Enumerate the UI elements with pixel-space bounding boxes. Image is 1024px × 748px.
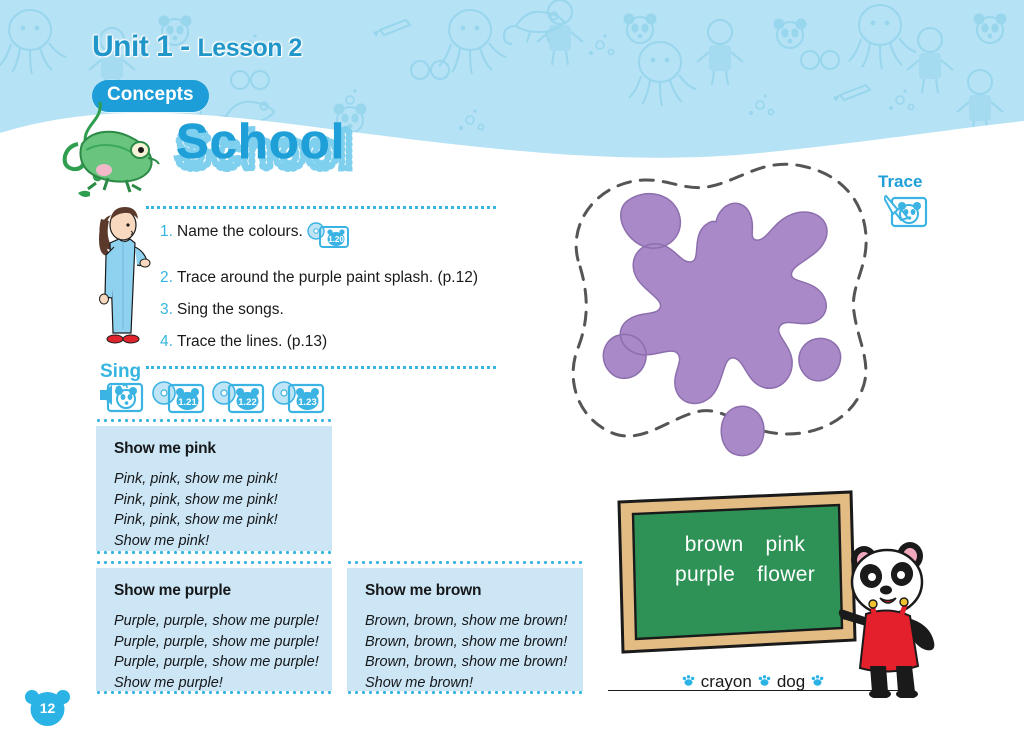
song-line: Brown, brown, show me brown! [365,611,567,632]
audio-track-number: 1.20 [328,235,344,244]
audio-track-number: 1.23 [298,397,317,408]
topic-title: School [176,118,345,167]
song-box-purple: Show me purple Purple, purple, show me p… [96,568,332,691]
dotted-divider-bottom-pink [96,551,332,558]
song-line: Brown, brown, show me brown! [365,652,567,673]
song-line: Show me brown! [365,673,567,694]
instruction-text: Trace around the purple paint splash. (p… [177,268,478,289]
audio-track-icon-1-20[interactable]: 1.20 [306,222,352,257]
instruction-item-4: 4. Trace the lines. (p.13) [146,332,496,353]
paint-splash-trace-activity [520,140,920,480]
instruction-text: Sing the songs. [177,300,284,321]
bottom-word-crayon: crayon [701,672,752,692]
song-line: Brown, brown, show me brown! [365,632,567,653]
song-line: Show me purple! [114,673,316,694]
paw-print-icon [682,672,695,692]
chameleon-mascot [56,100,176,200]
audio-track-icon-1-23[interactable]: 1.23 [272,380,326,423]
song-line: Purple, purple, show me purple! [114,632,316,653]
dotted-divider-top-brown [347,561,583,568]
song-line: Pink, pink, show me pink! [114,490,316,511]
song-title: Show me pink [114,440,316,458]
blackboard-word-row: brown pink [640,530,850,560]
sing-panda-icon [96,380,146,423]
page-title: Unit 1 - Lesson 2 [92,30,302,64]
instruction-text: Trace the lines. (p.13) [177,332,327,353]
song-line: Purple, purple, show me purple! [114,611,316,632]
instruction-number: 2. [160,268,177,289]
paw-print-icon [811,672,824,692]
audio-track-icon-1-22[interactable]: 1.22 [212,380,266,423]
bottom-word-dog: dog [777,672,805,692]
song-box-pink: Show me pink Pink, pink, show me pink! P… [96,426,332,551]
blackboard-word-row: purple flower [640,560,850,590]
song-title: Show me purple [114,582,316,600]
sing-audio-icons: 1.21 1.22 1.23 [96,380,326,423]
blackboard-word: flower [757,560,815,590]
instruction-number: 3. [160,300,177,321]
song-box-brown: Show me brown Brown, brown, show me brow… [347,568,583,691]
audio-track-number: 1.21 [178,397,197,408]
trace-panda-pencil-icon [884,192,930,232]
instruction-number: 1. [160,222,177,243]
audio-track-number: 1.22 [238,397,257,408]
blackboard-word: brown [685,530,744,560]
unit-label: Unit 1 - [92,30,190,63]
instructions-list: 1. Name the colours. 1.20 2. Trace aroun… [146,206,496,369]
song-line: Show me pink! [114,531,316,552]
instruction-item-3: 3. Sing the songs. [146,300,496,321]
audio-track-icon-1-21[interactable]: 1.21 [152,380,206,423]
paw-print-icon [758,672,771,692]
blackboard-word: purple [675,560,735,590]
song-line: Purple, purple, show me purple! [114,652,316,673]
blackboard-words: brown pink purple flower [640,530,850,591]
page-number: 12 [24,687,71,729]
song-line: Pink, pink, show me pink! [114,469,316,490]
purple-paint-splash [603,194,840,456]
blackboard-word: pink [765,530,805,560]
dotted-divider-top-pink [96,419,332,426]
trace-section-label: Trace [878,172,922,192]
instruction-item-1: 1. Name the colours. 1.20 [146,222,496,257]
lesson-label: Lesson 2 [198,34,302,62]
instruction-item-2: 2. Trace around the purple paint splash.… [146,268,496,289]
workbook-page: Unit 1 - Lesson 2 Concepts School School [0,0,1024,748]
song-line: Pink, pink, show me pink! [114,510,316,531]
instruction-number: 4. [160,332,177,353]
instruction-text: Name the colours. [177,222,303,243]
dotted-divider-top-purple [96,561,332,568]
bottom-word-list: crayon dog [608,672,898,692]
song-title: Show me brown [365,582,567,600]
